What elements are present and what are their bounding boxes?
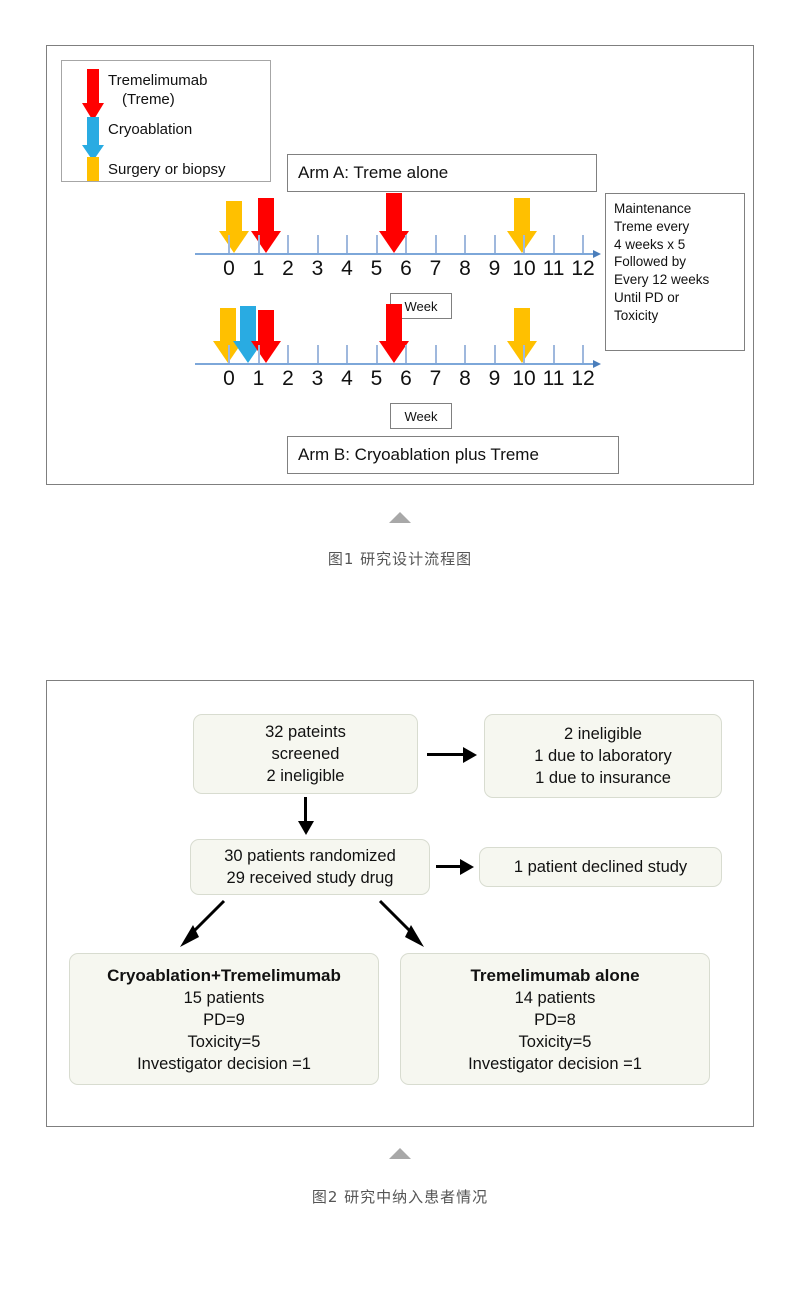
axis-tick [317, 345, 319, 363]
ineligible-line-3: 1 due to insurance [535, 767, 671, 789]
randomized-line-1: 30 patients randomized [224, 845, 396, 867]
legend-label-tremelimumab: Tremelimumab [108, 71, 207, 90]
legend-label-cryoablation: Cryoablation [108, 120, 192, 139]
axis-tick [317, 235, 319, 253]
axis-tick-label: 3 [312, 257, 324, 281]
maintenance-line-7: Toxicity [614, 307, 736, 325]
screened-line-3: 2 ineligible [267, 765, 345, 787]
arm-a-event-surgery-week9 [507, 198, 537, 253]
arm-a-week-label: Week [405, 299, 438, 314]
legend-box: Tremelimumab (Treme) Cryoablation Surger… [61, 60, 271, 182]
axis-tick [346, 235, 348, 253]
axis-tick-label: 11 [543, 257, 565, 281]
maintenance-box: Maintenance Treme every 4 weeks x 5 Foll… [605, 193, 745, 351]
axis-tick [405, 345, 407, 363]
treme-arm-header: Tremelimumab alone [470, 964, 639, 987]
cryo-arm-line-2: PD=9 [203, 1009, 245, 1031]
legend-label-surgery: Surgery or biopsy [108, 160, 226, 179]
arrow-randomized-to-treme-arm [372, 899, 432, 949]
treme-arm-line-4: Investigator decision =1 [468, 1053, 642, 1075]
axis-tick-label: 9 [489, 367, 501, 391]
arm-a-event-surgery-week0 [219, 201, 249, 253]
screened-line-1: 32 pateints [265, 721, 346, 743]
axis-tick-label: 4 [341, 367, 353, 391]
ineligible-line-1: 2 ineligible [564, 723, 642, 745]
axis-tick-label: 1 [253, 257, 265, 281]
axis-tick [464, 345, 466, 363]
randomized-line-2: 29 received study drug [227, 867, 394, 889]
axis-tick [494, 235, 496, 253]
arm-a-title: Arm A: Treme alone [298, 163, 448, 183]
flow-box-screened: 32 pateints screened 2 ineligible [193, 714, 418, 794]
axis-tick-label: 2 [282, 367, 294, 391]
figure-1-container: Tremelimumab (Treme) Cryoablation Surger… [46, 45, 754, 485]
arm-b-week-box: Week [390, 403, 452, 429]
axis-tick-label: 7 [430, 367, 442, 391]
figure-1-caption: 图1 研究设计流程图 [0, 548, 800, 569]
axis-tick-label: 10 [512, 367, 535, 391]
axis-tick [553, 235, 555, 253]
flow-box-treme-arm: Tremelimumab alone 14 patients PD=8 Toxi… [400, 953, 710, 1085]
axis-tick [287, 235, 289, 253]
axis-tick-label: 8 [459, 367, 471, 391]
axis-tick [376, 235, 378, 253]
treme-arm-line-2: PD=8 [534, 1009, 576, 1031]
axis-tick-label: 1 [253, 367, 265, 391]
figure-2-caption: 图2 研究中纳入患者情况 [0, 1186, 800, 1207]
axis-tick-label: 10 [512, 257, 535, 281]
axis-tick [405, 235, 407, 253]
axis-tick-label: 5 [371, 257, 383, 281]
axis-tick [258, 235, 260, 253]
axis-tick [523, 345, 525, 363]
figure-2-caption-triangle [389, 1148, 411, 1159]
axis-tick [228, 345, 230, 363]
arrow-down-left-icon [172, 899, 232, 949]
maintenance-line-5: Every 12 weeks [614, 271, 736, 289]
maintenance-line-6: Until PD or [614, 289, 736, 307]
axis-tick-label: 0 [223, 367, 235, 391]
axis-tick-label: 7 [430, 257, 442, 281]
legend-arrow-tremelimumab [82, 69, 104, 121]
screened-line-2: screened [272, 743, 340, 765]
ineligible-line-2: 1 due to laboratory [534, 745, 672, 767]
axis-tick-label: 12 [571, 367, 594, 391]
axis-tick [464, 235, 466, 253]
axis-tick-label: 6 [400, 257, 412, 281]
axis-tick [582, 235, 584, 253]
cryo-arm-line-4: Investigator decision =1 [137, 1053, 311, 1075]
cryo-arm-line-3: Toxicity=5 [188, 1031, 261, 1053]
axis-tick [258, 345, 260, 363]
flow-box-randomized: 30 patients randomized 29 received study… [190, 839, 430, 895]
axis-tick [582, 345, 584, 363]
flow-box-ineligible: 2 ineligible 1 due to laboratory 1 due t… [484, 714, 722, 798]
legend-arrow-surgery [82, 157, 104, 182]
maintenance-line-4: Followed by [614, 253, 736, 271]
arm-a-title-box: Arm A: Treme alone [287, 154, 597, 192]
axis-tick [523, 235, 525, 253]
arrow-down-right-icon [372, 899, 432, 949]
axis-tick [553, 345, 555, 363]
axis-tick [287, 345, 289, 363]
axis-tick-label: 11 [543, 367, 565, 391]
declined-line-1: 1 patient declined study [514, 856, 687, 878]
figure-2-container: 32 pateints screened 2 ineligible 2 inel… [46, 680, 754, 1127]
figure-1-caption-triangle [389, 512, 411, 523]
legend-sublabel-treme: (Treme) [122, 90, 175, 109]
flow-box-cryo-arm: Cryoablation+Tremelimumab 15 patients PD… [69, 953, 379, 1085]
cryo-arm-header: Cryoablation+Tremelimumab [107, 964, 341, 987]
maintenance-line-2: Treme every [614, 218, 736, 236]
axis-tick [376, 345, 378, 363]
axis-tick [435, 345, 437, 363]
arm-a-axis-line [195, 253, 595, 255]
axis-tick [435, 235, 437, 253]
axis-tick-label: 0 [223, 257, 235, 281]
axis-tick-label: 3 [312, 367, 324, 391]
axis-tick-label: 5 [371, 367, 383, 391]
arm-b-title: Arm B: Cryoablation plus Treme [298, 445, 539, 465]
treme-arm-line-1: 14 patients [515, 987, 596, 1009]
axis-tick-label: 2 [282, 257, 294, 281]
arm-b-event-treme-week1 [251, 310, 281, 363]
arm-b-axis-line [195, 363, 595, 365]
axis-tick [228, 235, 230, 253]
arm-b-title-box: Arm B: Cryoablation plus Treme [287, 436, 619, 474]
arm-a-event-treme-week1 [251, 198, 281, 253]
axis-tick-label: 8 [459, 257, 471, 281]
axis-tick-label: 12 [571, 257, 594, 281]
axis-tick [494, 345, 496, 363]
arrow-randomized-to-cryo-arm [172, 899, 232, 949]
legend-arrow-cryoablation [82, 117, 104, 161]
axis-tick-label: 4 [341, 257, 353, 281]
maintenance-line-1: Maintenance [614, 200, 736, 218]
cryo-arm-line-1: 15 patients [184, 987, 265, 1009]
axis-tick-label: 6 [400, 367, 412, 391]
arm-b-event-surgery-week9 [507, 308, 537, 363]
axis-tick [346, 345, 348, 363]
arm-b-week-label: Week [405, 409, 438, 424]
maintenance-line-3: 4 weeks x 5 [614, 236, 736, 254]
flow-box-declined: 1 patient declined study [479, 847, 722, 887]
axis-tick-label: 9 [489, 257, 501, 281]
treme-arm-line-3: Toxicity=5 [519, 1031, 592, 1053]
